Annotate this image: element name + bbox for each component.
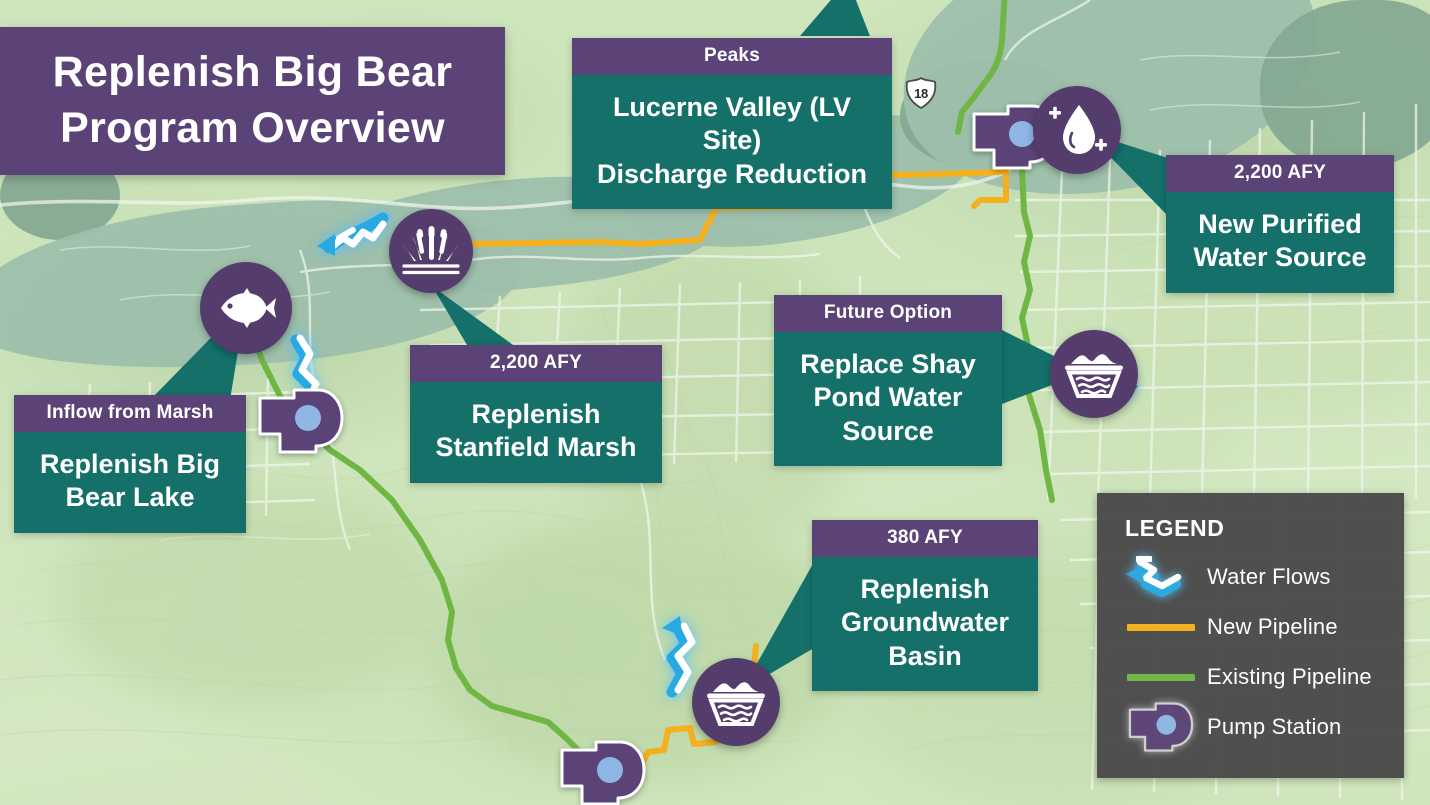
legend-item-water-flows: Water Flows	[1097, 552, 1404, 602]
legend-label: Existing Pipeline	[1207, 664, 1372, 690]
existing-pipeline-swatch	[1115, 674, 1207, 681]
callout-body: Replenish Stanfield Marsh	[410, 382, 662, 483]
callout-body-line: Lucerne Valley (LV Site)	[586, 91, 878, 158]
marsh-cattails-icon[interactable]	[389, 209, 473, 293]
callout-replenish-stanfield-marsh[interactable]: 2,200 AFY Replenish Stanfield Marsh	[410, 345, 662, 483]
tail-stanfield-marsh	[432, 286, 520, 350]
legend-item-new-pipeline: New Pipeline	[1097, 602, 1404, 652]
callout-header: 2,200 AFY	[1166, 155, 1394, 192]
callout-new-purified-water-source[interactable]: 2,200 AFY New Purified Water Source	[1166, 155, 1394, 293]
legend-title: LEGEND	[1097, 493, 1404, 542]
callout-header: Peaks	[572, 38, 892, 75]
callout-replenish-groundwater-basin[interactable]: 380 AFY Replenish Groundwater Basin	[812, 520, 1038, 691]
callout-header: Inflow from Marsh	[14, 395, 246, 432]
callout-body-line: Discharge Reduction	[586, 158, 878, 191]
water-flow-arrow	[313, 208, 401, 276]
highway-shield-number: 18	[914, 86, 928, 101]
page-title: Replenish Big Bear Program Overview	[0, 27, 505, 175]
callout-replenish-big-bear-lake[interactable]: Inflow from Marsh Replenish Big Bear Lak…	[14, 395, 246, 533]
groundwater-basin-icon[interactable]	[692, 658, 780, 746]
callout-body-line: Stanfield Marsh	[424, 431, 648, 464]
callout-header: 2,200 AFY	[410, 345, 662, 382]
callout-replace-shay-pond[interactable]: Future Option Replace Shay Pond Water So…	[774, 295, 1002, 466]
callout-body-line: Replace Shay	[788, 348, 988, 381]
pump-station-icon	[258, 388, 344, 454]
legend-item-existing-pipeline: Existing Pipeline	[1097, 652, 1404, 702]
callout-body-line: Groundwater	[826, 606, 1024, 639]
new-pipeline-swatch	[1115, 624, 1207, 631]
callout-body-line: Replenish	[826, 573, 1024, 606]
callout-body-line: Source	[788, 415, 988, 448]
highway-18-shield: 18	[904, 77, 938, 109]
callout-body-line: Replenish	[424, 398, 648, 431]
title-line-2: Program Overview	[53, 101, 453, 157]
program-overview-map: 18 Replenish Big Bear Program Overview P…	[0, 0, 1430, 805]
legend-item-pump-station: Pump Station	[1097, 702, 1404, 752]
callout-body: New Purified Water Source	[1166, 192, 1394, 293]
water-flow-icon	[1115, 550, 1207, 604]
callout-body: Replace Shay Pond Water Source	[774, 332, 1002, 466]
callout-body: Replenish Groundwater Basin	[812, 557, 1038, 691]
legend-label: Pump Station	[1207, 714, 1341, 740]
pump-station-icon	[560, 740, 646, 805]
callout-body-line: New Purified	[1180, 208, 1380, 241]
callout-body-line: Water Source	[1180, 241, 1380, 274]
title-line-1: Replenish Big Bear	[53, 45, 453, 101]
callout-body-line: Pond Water	[788, 381, 988, 414]
callout-body-line: Bear Lake	[28, 481, 232, 514]
callout-body-line: Basin	[826, 640, 1024, 673]
legend-label: Water Flows	[1207, 564, 1331, 590]
callout-lucerne-valley[interactable]: Peaks Lucerne Valley (LV Site) Discharge…	[572, 38, 892, 209]
water-droplet-sparkle-icon[interactable]	[1033, 86, 1121, 174]
callout-body-line: Replenish Big	[28, 448, 232, 481]
pump-station-icon	[1115, 702, 1207, 752]
fish-icon[interactable]	[200, 262, 292, 354]
groundwater-basin-icon[interactable]	[1050, 330, 1138, 418]
callout-body: Lucerne Valley (LV Site) Discharge Reduc…	[572, 75, 892, 209]
legend-label: New Pipeline	[1207, 614, 1338, 640]
callout-body: Replenish Big Bear Lake	[14, 432, 246, 533]
tail-lucerne-valley	[800, 0, 870, 36]
legend-panel: LEGEND Water Flows New Pipeline	[1097, 493, 1404, 778]
callout-header: 380 AFY	[812, 520, 1038, 557]
callout-header: Future Option	[774, 295, 1002, 332]
